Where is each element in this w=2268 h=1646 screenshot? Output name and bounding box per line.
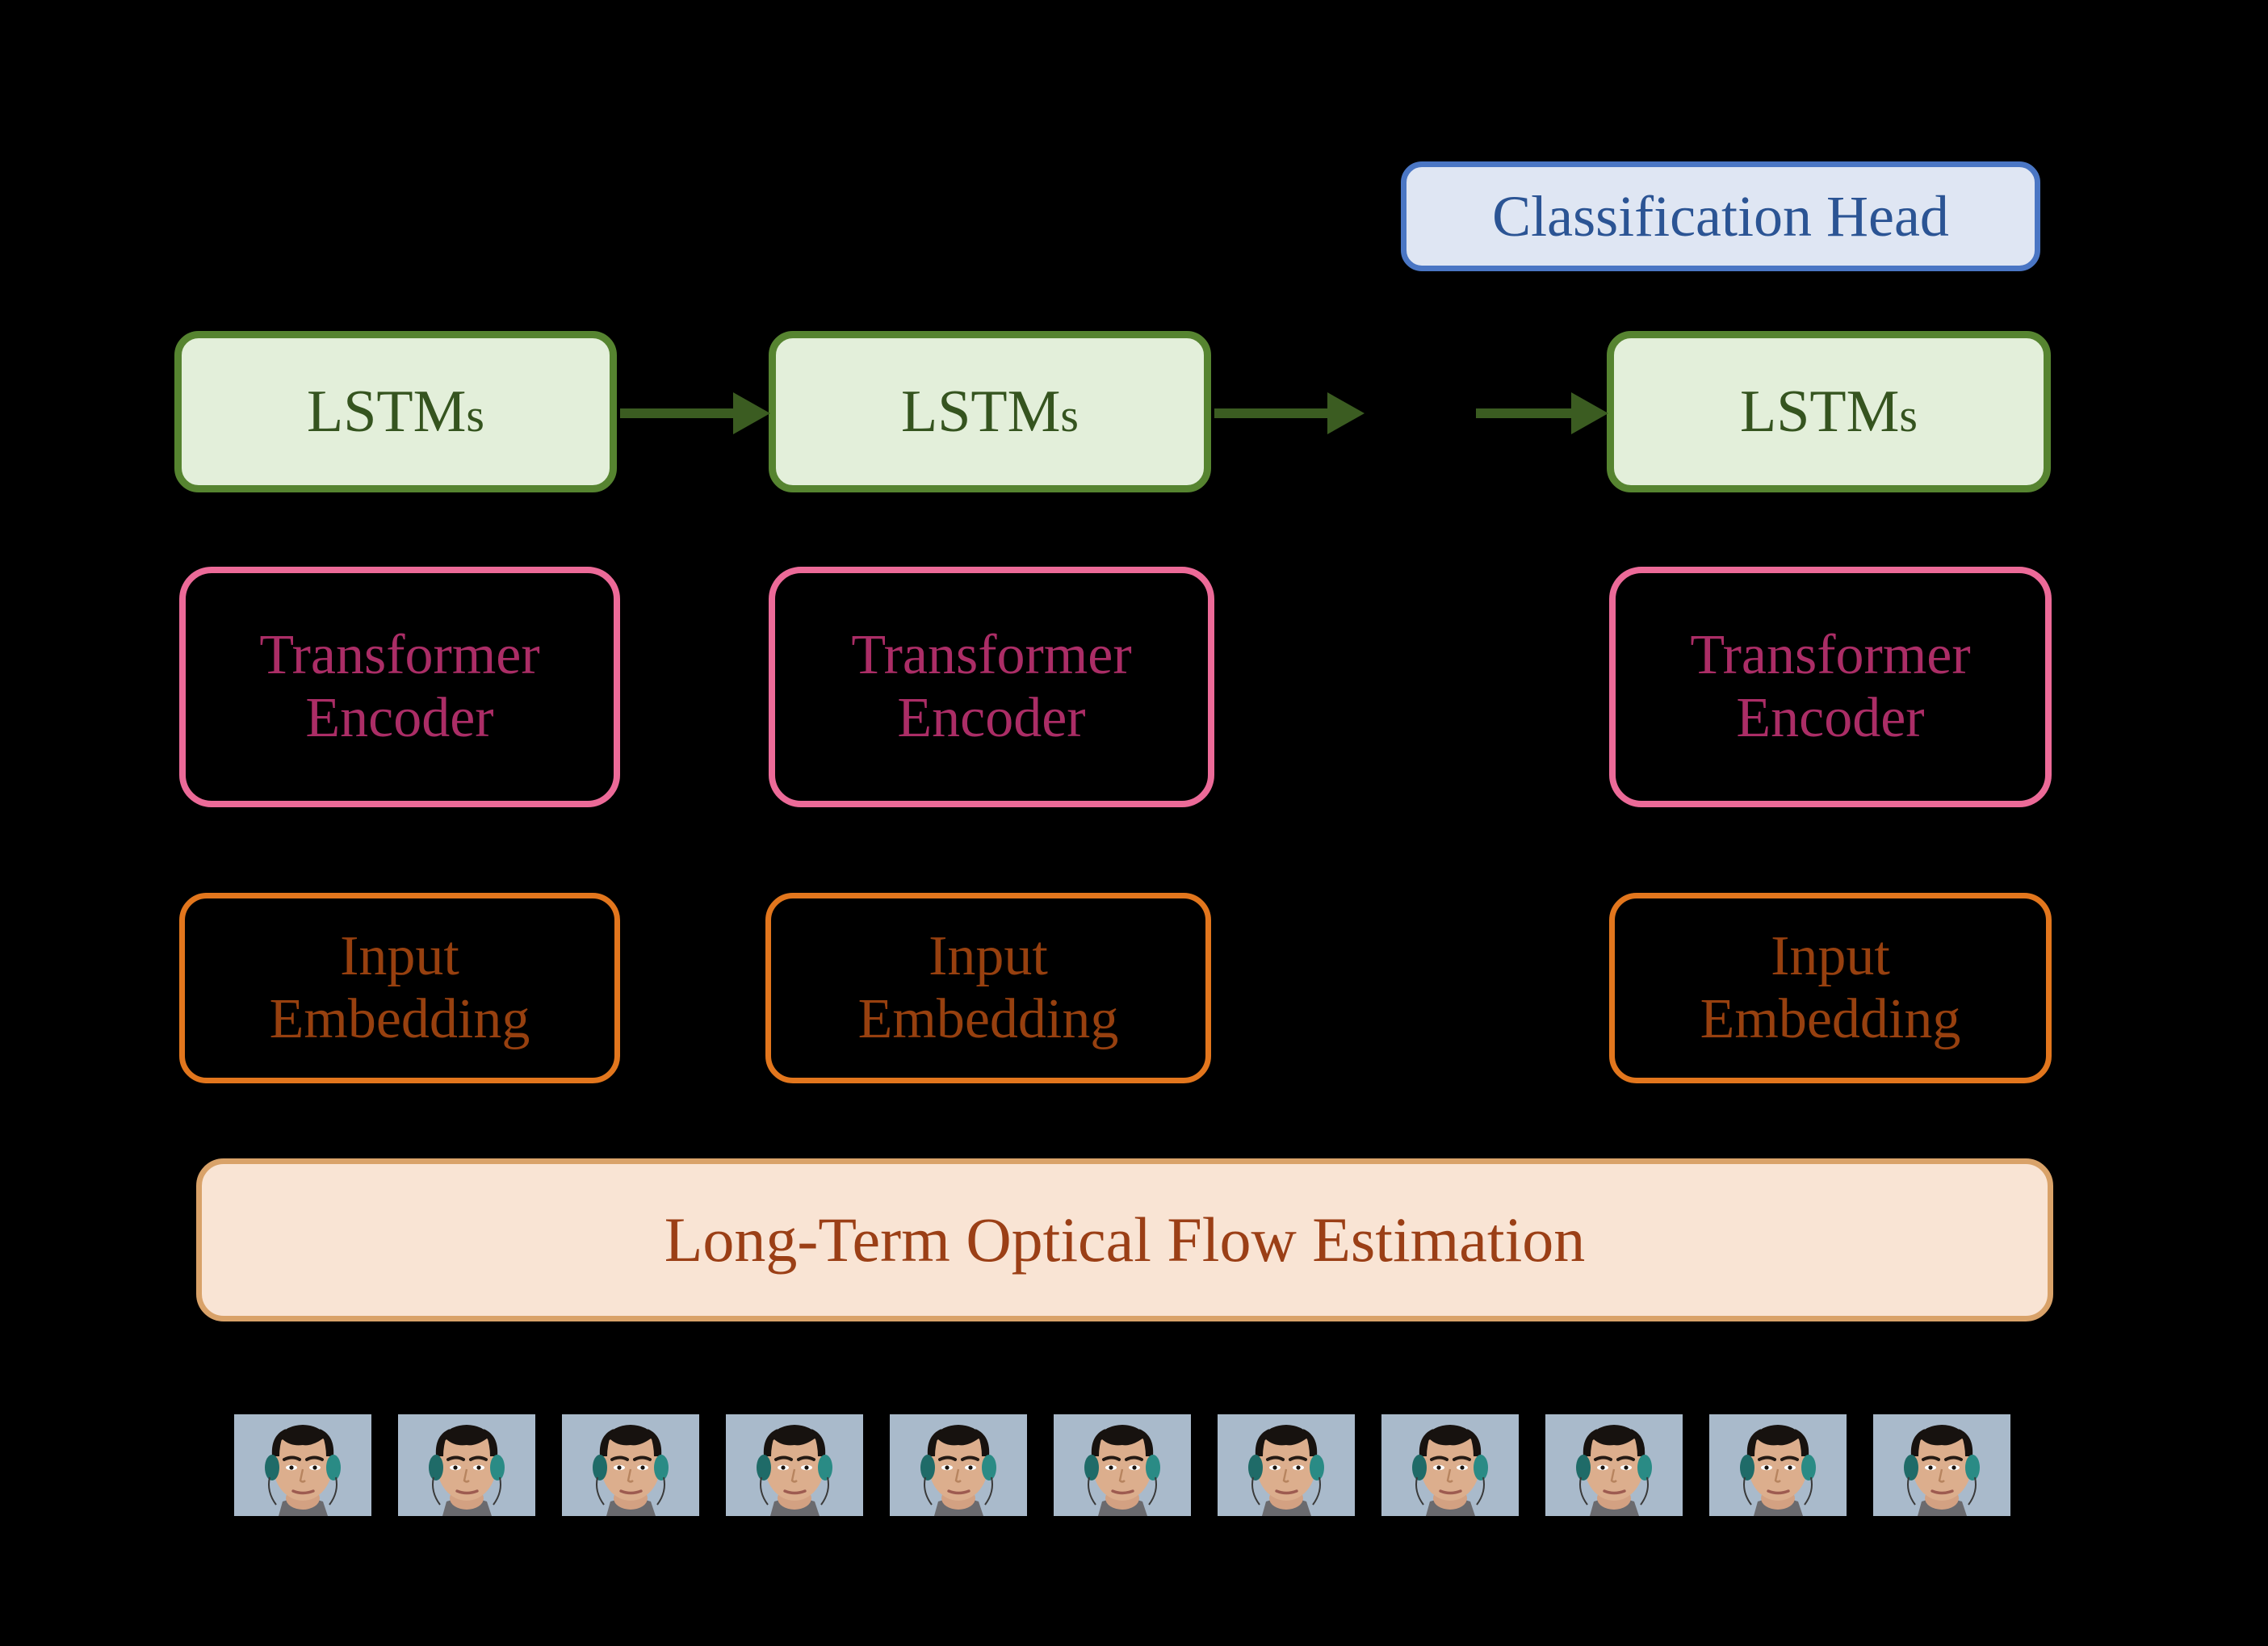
transformer-encoder-label-1: Transformer Encoder — [259, 624, 539, 751]
face-frame-image — [562, 1414, 699, 1516]
input-embedding-label-3: Input Embedding — [1700, 925, 1961, 1052]
video-frame — [1709, 1414, 1847, 1516]
input-embedding-label-2: Input Embedding — [858, 925, 1119, 1052]
face-frame-image — [1873, 1414, 2010, 1516]
classification-head-label: Classification Head — [1492, 184, 1949, 249]
classification-head-box[interactable]: Classification Head — [1401, 161, 2040, 271]
face-frame-image — [1054, 1414, 1191, 1516]
transformer-encoder-label-3: Transformer Encoder — [1690, 624, 1970, 751]
face-frame-image — [1218, 1414, 1355, 1516]
input-embedding-box-1[interactable]: Input Embedding — [179, 893, 620, 1083]
video-frame — [1381, 1414, 1519, 1516]
input-embedding-box-3[interactable]: Input Embedding — [1609, 893, 2052, 1083]
face-frame-image — [890, 1414, 1027, 1516]
video-frame-strip — [234, 1414, 2012, 1516]
arrow-shaft — [1214, 408, 1327, 418]
video-frame — [234, 1414, 371, 1516]
video-frame — [726, 1414, 863, 1516]
arrow-head — [1571, 392, 1608, 434]
long-term-optical-flow-estimation-bar[interactable]: Long-Term Optical Flow Estimation — [196, 1158, 2053, 1321]
input-embedding-label-1: Input Embedding — [270, 925, 530, 1052]
lstm-box-1[interactable]: LSTMs — [174, 331, 617, 492]
input-embedding-box-2[interactable]: Input Embedding — [765, 893, 1211, 1083]
face-frame-image — [398, 1414, 535, 1516]
lstm-label-1: LSTMs — [307, 379, 484, 446]
video-frame — [890, 1414, 1027, 1516]
lstm-label-3: LSTMs — [1740, 379, 1918, 446]
transformer-encoder-label-2: Transformer Encoder — [851, 624, 1131, 751]
diagram-canvas: Classification Head LSTMs LSTMs LSTMs Tr… — [0, 0, 2268, 1646]
face-frame-image — [726, 1414, 863, 1516]
video-frame — [1054, 1414, 1191, 1516]
video-frame — [562, 1414, 699, 1516]
video-frame — [1545, 1414, 1683, 1516]
face-frame-image — [234, 1414, 371, 1516]
video-frame — [1873, 1414, 2010, 1516]
face-frame-image — [1545, 1414, 1683, 1516]
transformer-encoder-box-2[interactable]: Transformer Encoder — [769, 567, 1214, 807]
video-frame — [1218, 1414, 1355, 1516]
arrow-head — [733, 392, 770, 434]
arrow-shaft — [620, 408, 733, 418]
face-frame-image — [1381, 1414, 1519, 1516]
lstm-box-3[interactable]: LSTMs — [1607, 331, 2051, 492]
face-frame-image — [1709, 1414, 1847, 1516]
lstm-box-2[interactable]: LSTMs — [769, 331, 1211, 492]
transformer-encoder-box-3[interactable]: Transformer Encoder — [1609, 567, 2052, 807]
transformer-encoder-box-1[interactable]: Transformer Encoder — [179, 567, 620, 807]
arrow-shaft — [1476, 408, 1573, 418]
video-frame — [398, 1414, 535, 1516]
long-term-optical-flow-estimation-label: Long-Term Optical Flow Estimation — [664, 1204, 1586, 1275]
arrow-head — [1327, 392, 1365, 434]
lstm-label-2: LSTMs — [901, 379, 1079, 446]
